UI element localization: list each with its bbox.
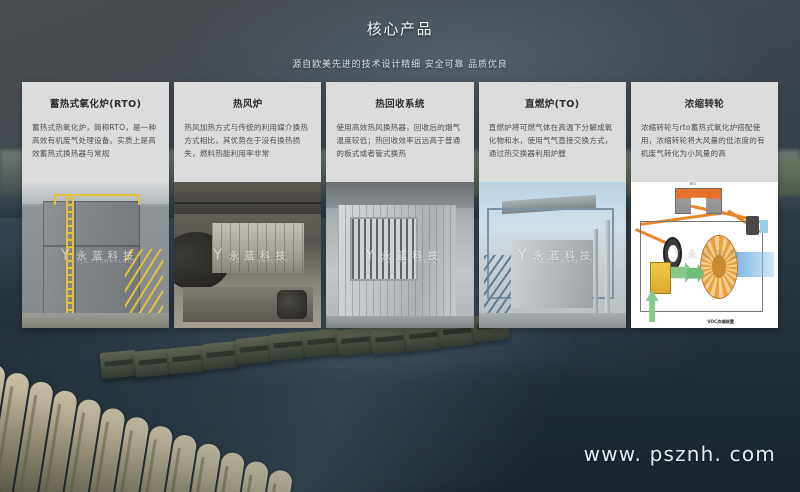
exhaust-fan-icon (746, 216, 759, 235)
hot-blast-stove-photo: Y 永 蓝 科 技 YJB TECHNOLOGY (174, 182, 321, 328)
product-card-voc-rotor[interactable]: 浓缩转轮 浓缩转轮与rto蓄热式氧化炉搭配使用，浓缩转轮将大风量的低浓度的有机废… (631, 82, 778, 328)
brand-watermark: Y 永 蓝 科 技 (669, 245, 740, 262)
dock-segment (302, 329, 340, 358)
vertical-pipe (605, 220, 610, 319)
photo-floor (326, 316, 473, 328)
card-text-block: 浓缩转轮 浓缩转轮与rto蓄热式氧化炉搭配使用，浓缩转轮将大风量的低浓度的有机废… (631, 82, 778, 182)
card-text-block: 直燃炉(TO) 直燃炉将可燃气体在高温下分解成氧化物和水，使用气气直接交换方式，… (479, 82, 626, 182)
product-card-heat-recovery[interactable]: 热回收系统 使用高效热风换热器，回收后的烟气温度较低；热回收效率远远高于普通的板… (326, 82, 473, 328)
yellow-ladder (66, 197, 74, 323)
card-description: 热风加热方式与传统的利用媒介换热方式相比，其优势在于没有换热损失，燃料热能利用率… (184, 121, 311, 160)
dock-segment (336, 327, 374, 356)
prefilter-icon (650, 262, 671, 294)
rto-module-icon (675, 188, 722, 214)
card-description: 直燃炉将可燃气体在高温下分解成氧化物和水，使用气气直接交换方式，通过热交换器利用… (489, 121, 616, 160)
page-subtitle: 源自欧美先进的技术设计精细 安全可靠 品质优良 (0, 57, 800, 70)
product-card-row: 蓄热式氧化炉(RTO) 蓄热式热氧化炉，简称RTO，是一种高效有机废气处理设备。… (22, 82, 778, 328)
card-text-block: 热回收系统 使用高效热风换热器，回收后的烟气温度较低；热回收效率远远高于普通的板… (326, 82, 473, 182)
diagram-canvas: RTO VOC浓缩装置 Y 永 蓝 科 技 (631, 182, 778, 328)
vertical-pipe-2 (594, 229, 598, 320)
heat-exchanger-bank (212, 223, 303, 273)
blower-motor (277, 290, 306, 319)
card-description: 使用高效热风换热器，回收后的烟气温度较低；热回收效率远远高于普通的板式或者管式换… (336, 121, 463, 160)
workshop-ceiling (326, 182, 473, 208)
photo-scene (479, 182, 626, 328)
page-title: 核心产品 (0, 18, 800, 39)
product-card-rto[interactable]: 蓄热式氧化炉(RTO) 蓄热式热氧化炉，简称RTO，是一种高效有机废气处理设备。… (22, 82, 169, 328)
diagram-caption: VOC浓缩装置 (707, 319, 734, 325)
brand-name-cn: 永 蓝 科 技 (688, 247, 740, 260)
to-unit-photo: Y 永 蓝 科 技 YJB TECHNOLOGY (479, 182, 626, 328)
voc-concentrator-diagram: RTO VOC浓缩装置 Y 永 蓝 科 技 (631, 182, 778, 328)
card-text-block: 热风炉 热风加热方式与传统的利用媒介换热方式相比，其优势在于没有换热损失，燃料热… (174, 82, 321, 182)
factory-roof (174, 182, 321, 214)
photo-ground (479, 313, 626, 328)
card-description: 浓缩转轮与rto蓄热式氧化炉搭配使用，浓缩转轮将大风量的低浓度的有机废气转化为小… (641, 121, 768, 160)
dock-segment (370, 325, 408, 354)
product-card-hot-blast-stove[interactable]: 热风炉 热风加热方式与传统的利用媒介换热方式相比，其优势在于没有换热损失，燃料热… (174, 82, 321, 328)
rto-label: RTO (690, 182, 696, 186)
rto-unit-photo: Y 永 蓝 科 技 YJB TECHNOLOGY (22, 182, 169, 328)
card-text-block: 蓄热式氧化炉(RTO) 蓄热式热氧化炉，简称RTO，是一种高效有机废气处理设备。… (22, 82, 169, 182)
card-title: 热回收系统 (336, 96, 463, 110)
card-title: 热风炉 (184, 96, 311, 110)
photo-scene (174, 182, 321, 328)
card-title: 蓄热式氧化炉(RTO) (32, 96, 159, 110)
dock-segment (201, 341, 239, 370)
photo-scene (22, 182, 169, 328)
heat-recovery-system-photo: Y 永 蓝 科 技 YJB TECHNOLOGY (326, 182, 473, 328)
photo-ground (22, 313, 169, 328)
card-description: 蓄热式热氧化炉，简称RTO，是一种高效有机废气处理设备。实质上是高效蓄热式换热器… (32, 121, 159, 160)
to-furnace-body (511, 240, 593, 307)
product-card-to[interactable]: 直燃炉(TO) 直燃炉将可燃气体在高温下分解成氧化物和水，使用气气直接交换方式，… (479, 82, 626, 328)
card-title: 浓缩转轮 (641, 96, 768, 110)
site-url-watermark: www. psznh. com (584, 442, 776, 466)
photo-scene (326, 182, 473, 328)
page-header: 核心产品 源自欧美先进的技术设计精细 安全可靠 品质优良 (0, 0, 800, 70)
exchanger-grille (350, 217, 418, 281)
dock-segment (235, 336, 273, 365)
stack-icon (760, 220, 767, 233)
dock-segment (269, 332, 307, 361)
blue-stairway (484, 255, 510, 319)
card-title: 直燃炉(TO) (489, 96, 616, 110)
brand-mark-icon: Y (669, 245, 686, 262)
